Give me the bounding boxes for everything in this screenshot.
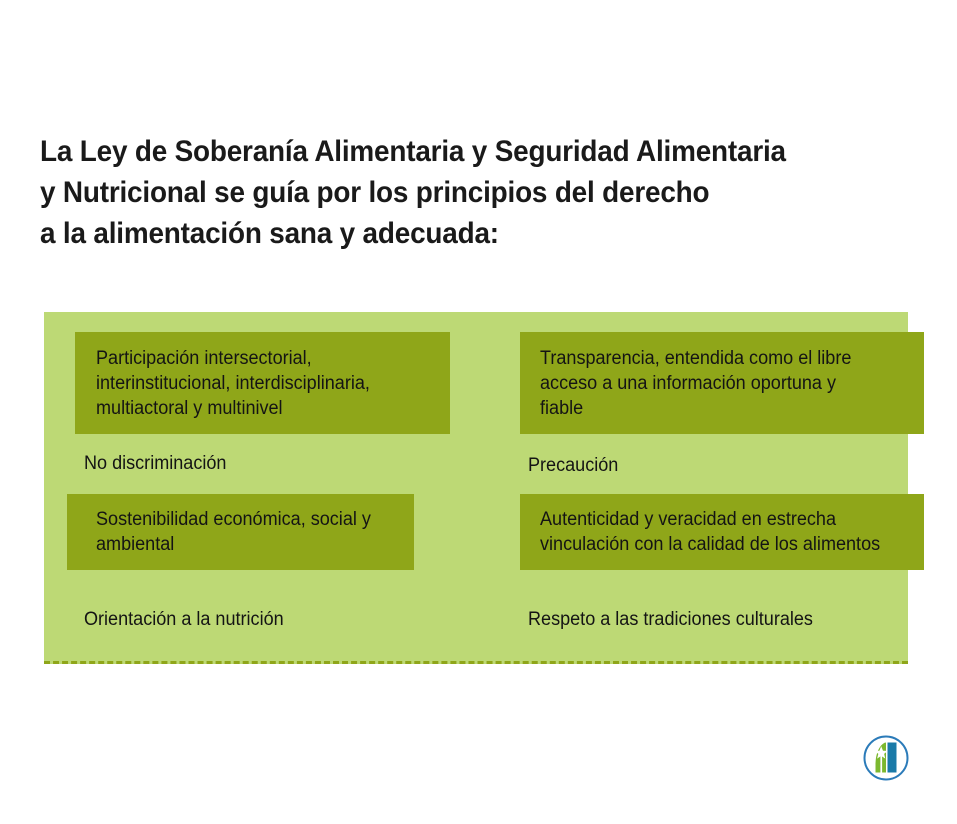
principle-item-participacion: Participación intersectorial, interinsti… — [75, 332, 450, 434]
principle-label: Respeto a las tradiciones culturales — [528, 607, 813, 632]
principle-item-no-discriminacion: No discriminación — [84, 446, 464, 480]
principle-item-precaucion: Precaución — [528, 448, 908, 482]
principle-item-transparencia: Transparencia, entendida como el libre a… — [520, 332, 924, 434]
page-title-line-2: y Nutricional se guía por los principios… — [40, 172, 840, 213]
principle-label: Autenticidad y veracidad en estrecha vin… — [540, 507, 880, 557]
fao-circle-star-logo-svg — [862, 734, 910, 782]
fao-logo-icon — [862, 734, 910, 782]
principle-label: Sostenibilidad económica, social y ambie… — [96, 507, 371, 557]
principle-item-sostenibilidad: Sostenibilidad económica, social y ambie… — [67, 494, 414, 570]
principle-label: Orientación a la nutrición — [84, 607, 284, 632]
principle-label: Transparencia, entendida como el libre a… — [540, 346, 851, 421]
principles-panel: Participación intersectorial, interinsti… — [44, 312, 908, 664]
principle-item-orientacion-nutricion: Orientación a la nutrición — [84, 602, 464, 636]
principle-label: Precaución — [528, 453, 618, 478]
principles-column-left: Participación intersectorial, interinsti… — [44, 312, 476, 661]
page-title-line-1: La Ley de Soberanía Alimentaria y Seguri… — [40, 131, 840, 172]
principle-label: Participación intersectorial, interinsti… — [96, 346, 370, 421]
principles-column-right: Transparencia, entendida como el libre a… — [476, 312, 908, 661]
page-title-line-3: a la alimentación sana y adecuada: — [40, 213, 840, 254]
principle-label: No discriminación — [84, 451, 226, 476]
principle-item-respeto-tradiciones: Respeto a las tradiciones culturales — [528, 602, 908, 636]
principle-item-autenticidad: Autenticidad y veracidad en estrecha vin… — [520, 494, 924, 570]
slide-canvas: La Ley de Soberanía Alimentaria y Seguri… — [0, 0, 957, 824]
page-title: La Ley de Soberanía Alimentaria y Seguri… — [40, 131, 900, 254]
